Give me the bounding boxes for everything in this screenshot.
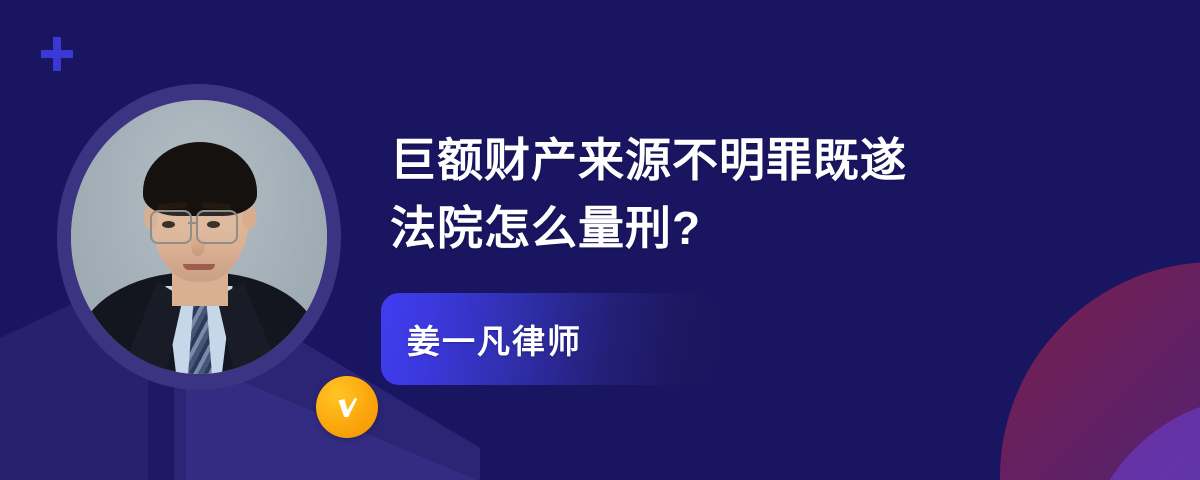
portrait-glasses-bridge bbox=[188, 222, 196, 224]
lawyer-name-badge[interactable]: 姜一凡律师 bbox=[381, 293, 716, 385]
plus-icon bbox=[41, 37, 73, 71]
portrait-nose bbox=[191, 236, 205, 256]
avatar-photo bbox=[71, 100, 327, 374]
verified-v-icon bbox=[316, 376, 378, 438]
lawyer-name-label: 姜一凡律师 bbox=[407, 315, 582, 363]
avatar bbox=[57, 84, 341, 390]
portrait-mouth bbox=[183, 264, 215, 270]
page-title: 巨额财产来源不明罪既遂 法院怎么量刑? bbox=[390, 126, 1110, 262]
portrait-glasses-left bbox=[150, 210, 192, 244]
lawyer-question-banner: 巨额财产来源不明罪既遂 法院怎么量刑? 姜一凡律师 bbox=[0, 0, 1200, 480]
